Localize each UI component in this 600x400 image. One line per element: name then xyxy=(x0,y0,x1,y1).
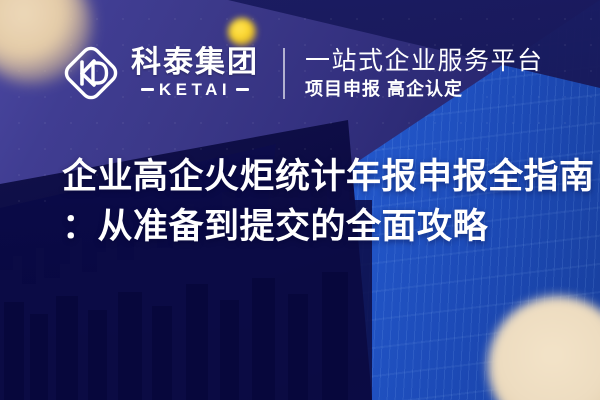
title-line-1: 企业高企火炬统计年报申报全指南 xyxy=(62,152,567,202)
page-title: 企业高企火炬统计年报申报全指南 ：从准备到提交的全面攻略 xyxy=(62,152,567,251)
dash-right-icon xyxy=(236,88,249,91)
ketai-diamond-k-logo-icon xyxy=(60,42,122,104)
title-line-2: ：从准备到提交的全面攻略 xyxy=(62,202,567,252)
tagline-block: 一站式企业服务平台 项目申报 高企认定 xyxy=(305,47,544,100)
tagline-sub: 项目申报 高企认定 xyxy=(305,80,544,100)
vertical-divider xyxy=(283,48,285,99)
logo-name-en-row: KETAI xyxy=(141,81,249,98)
logo-wordmark: 科泰集团 KETAI xyxy=(131,48,259,99)
logo-name-cn: 科泰集团 xyxy=(131,48,259,79)
banner-header: 科泰集团 KETAI 一站式企业服务平台 项目申报 高企认定 xyxy=(60,42,544,104)
promo-banner: 科泰集团 KETAI 一站式企业服务平台 项目申报 高企认定 企业高企火炬统计年… xyxy=(0,0,600,400)
logo-name-en: KETAI xyxy=(159,81,231,98)
tagline-main: 一站式企业服务平台 xyxy=(305,47,544,75)
dash-left-icon xyxy=(141,88,154,91)
